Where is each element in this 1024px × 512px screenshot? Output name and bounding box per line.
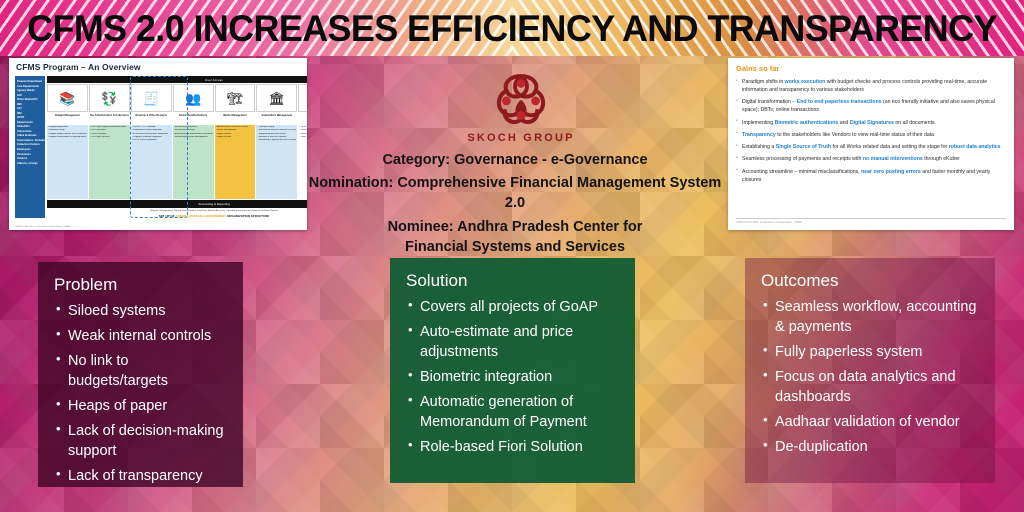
cfms-module-column[interactable]: 📚Budget Management• Budget preparation• … (47, 84, 88, 199)
list-item: Focus on data analytics and dashboards (761, 367, 979, 407)
cfms-module-column[interactable]: 🏗Works Management• Administrative Sancti… (215, 84, 256, 199)
cfms-module-column[interactable]: 👥Social Benefits Delivery• Beneficiary E… (173, 84, 214, 199)
meta-category: Category: Governance - e-Governance (300, 150, 730, 170)
cfms-module-columns: 📚Budget Management• Budget preparation• … (47, 84, 307, 199)
list-item: Fully paperless system (761, 342, 979, 362)
cfms-module-items: • Workflow Setup• Bill creation Manual/ … (256, 125, 297, 199)
gains-text: to the stakeholders like Vendors to view… (776, 132, 934, 138)
gains-item: Digital transformation – End to end pape… (736, 98, 1006, 114)
cfms-module-item: • UDTS Portal Integration (132, 139, 171, 142)
cfms-module-item: • Other Loans (299, 136, 307, 139)
gains-text: Digital transformation – (742, 99, 797, 105)
list-item: Aadhaar validation of vendor (761, 412, 979, 432)
panel-problem: Problem Siloed systemsWeak internal cont… (38, 262, 243, 487)
debt-icon: 🏦 (298, 84, 307, 112)
gains-item: Seamless processing of payments and rece… (736, 155, 1006, 163)
cfms-module-items: • Beneficiary Enrollment• Beneficiary Pr… (173, 125, 214, 199)
gains-item: Paradigm shifts in works execution with … (736, 78, 1006, 94)
cfms-module-column[interactable]: 🏛Expenditure Management• Workflow Setup•… (256, 84, 297, 199)
cfms-setup-line: SET UP OF ANDHRA PRADESH GOVERNMENT ORGA… (47, 213, 307, 219)
skoch-logo: SKOCH GROUP (466, 62, 576, 148)
cfms-module-header: Debt Management (298, 112, 307, 125)
works-icon: 🏗 (215, 84, 256, 112)
gains-title: Gains so far (736, 64, 779, 73)
cfms-module-item: • Beneficiary Account Management (174, 136, 213, 139)
cfms-module-items: • Administrative Sanction Process• Works… (215, 125, 256, 199)
list-item: Heaps of paper (54, 396, 227, 416)
page-title: CFMS 2.0 INCREASES EFFICIENCY AND TRANSP… (15, 0, 1008, 56)
cfms-stakeholder-item: Citizens, at large (17, 162, 43, 167)
panel-solution: Solution Covers all projects of GoAPAuto… (390, 258, 635, 483)
cfms-module-header: Expenditure Management (256, 112, 297, 125)
gains-text: Paradigm shifts in (742, 79, 785, 85)
skoch-knot-icon (484, 66, 558, 130)
panel-solution-list: Covers all projects of GoAPAuto-estimate… (406, 297, 619, 457)
cfms-modules-area: User Access 📚Budget Management• Budget p… (47, 76, 307, 218)
panel-outcomes-list: Seamless workflow, accounting & payments… (761, 297, 979, 457)
list-item: Lack of decision-making support (54, 421, 227, 461)
cfms-module-header: Works Management (215, 112, 256, 125)
cfms-module-column[interactable]: 💱Tax Administration & Collections• Tax P… (89, 84, 130, 199)
cfms-module-header: Tax Administration & Collections (89, 112, 130, 125)
list-item: Siloed systems (54, 301, 227, 321)
panel-problem-title: Problem (54, 276, 227, 295)
cfms-module-item: • Tax Payer Services (90, 136, 129, 139)
gains-highlight: Single Source of Truth (776, 144, 831, 150)
list-item: No link to budgets/targets (54, 351, 227, 391)
cfms-module-header: Revenue & Other Receipts (131, 112, 172, 125)
panel-problem-list: Siloed systemsWeak internal controlsNo l… (54, 301, 227, 486)
cfms-module-items: • Budget preparation• Workflow Setup• Bu… (47, 125, 88, 199)
gains-list: Paradigm shifts in works execution with … (728, 58, 1014, 184)
benefits-icon: 👥 (173, 84, 214, 112)
panel-outcomes-title: Outcomes (761, 272, 979, 291)
cfms-module-item: • Beneficiary Payment with RBI E-Kuber o… (257, 139, 296, 142)
cfms-module-header: Budget Management (47, 112, 88, 125)
cfms-module-items: • Tax Payer Registration Authorization• … (89, 125, 130, 199)
slide-canvas: CFMS 2.0 INCREASES EFFICIENCY AND TRANSP… (0, 0, 1024, 512)
nomination-meta: Category: Governance - e-Governance Nomi… (300, 150, 730, 257)
cfms-overview-thumbnail[interactable]: CFMS Program – An Overview Finance Depar… (9, 58, 307, 230)
gains-text: Seamless processing of payments and rece… (742, 156, 863, 162)
cfms-setup-suffix: ORGANIZATION STRUCTURE (226, 214, 269, 218)
cfms-stakeholder-list: Finance DepartmentLine DepartmentsAgency… (15, 76, 45, 218)
gains-item: Implementing Biometric authentications a… (736, 119, 1006, 127)
gains-highlight: no manual interventions (863, 156, 923, 162)
cfms-user-access-bar: User Access (47, 76, 307, 83)
gains-highlight: works execution (785, 79, 826, 85)
gains-highlight: Biometric authentications (775, 120, 839, 126)
meta-nominee-line1: Nominee: Andhra Pradesh Center for (300, 217, 730, 237)
cfms-module-items: • On-line / OTC Receipts• Department Por… (131, 125, 172, 199)
list-item: Automatic generation of Memorandum of Pa… (406, 392, 619, 432)
list-item: Weak internal controls (54, 326, 227, 346)
cfms-setup-prefix: SET UP OF (159, 214, 176, 218)
cfms-module-item: • Digital of Work (216, 136, 255, 139)
list-item: Covers all projects of GoAP (406, 297, 619, 317)
cfms-module-item: • Budget authorization, re-appropriation… (48, 136, 87, 139)
cfms-stakeholder-item: Finance Department (17, 80, 43, 85)
header-banner: CFMS 2.0 INCREASES EFFICIENCY AND TRANSP… (0, 0, 1024, 56)
gains-highlight: Digital Signatures (850, 120, 894, 126)
gains-item: Establishing a Single Source of Truth fo… (736, 143, 1006, 151)
cfms-accounting-bar: Accounting & Reporting (47, 200, 307, 208)
list-item: Seamless workflow, accounting & payments (761, 297, 979, 337)
gains-highlight: Transparency (742, 132, 776, 138)
list-item: Lack of transparency (54, 466, 227, 486)
gains-highlight: End to end paperless transactions (797, 99, 882, 105)
cfms-slide-footer: CFMS 2.0 AP Office of Secretary of Gover… (15, 226, 70, 228)
list-item: Role-based Fiori Solution (406, 437, 619, 457)
gains-text: and (838, 120, 850, 126)
gains-item: Accounting streamline – minimal misclass… (736, 168, 1006, 184)
gains-text: on all documents (894, 120, 935, 126)
cfms-slide-body: Finance DepartmentLine DepartmentsAgency… (15, 76, 301, 218)
cfms-module-column[interactable]: 🧾Revenue & Other Receipts• On-line / OTC… (131, 84, 172, 199)
list-item: Auto-estimate and price adjustments (406, 322, 619, 362)
gains-highlight: robust data analytics (949, 144, 1001, 150)
meta-nomination: Nomination: Comprehensive Financial Mana… (300, 173, 730, 213)
cfms-module-header: Social Benefits Delivery (173, 112, 214, 125)
skoch-logo-text: SKOCH GROUP (467, 132, 574, 144)
panel-outcomes: Outcomes Seamless workflow, accounting &… (745, 258, 995, 483)
cfms-setup-highlight: ANDHRA PRADESH GOVERNMENT (175, 214, 226, 218)
gains-text: Implementing (742, 120, 775, 126)
gains-footer: CFMS 2.0 AP Office of Secretary of Gover… (736, 218, 1006, 224)
expenditure-icon: 🏛 (256, 84, 297, 112)
panel-solution-title: Solution (406, 272, 619, 291)
gains-highlight: near zero posting errors (861, 169, 921, 175)
gains-text: Establishing a (742, 144, 776, 150)
cfms-slide-title: CFMS Program – An Overview (16, 62, 141, 72)
receipts-icon: 🧾 (131, 84, 172, 112)
tax-icon: 💱 (89, 84, 130, 112)
list-item: Biometric integration (406, 367, 619, 387)
gains-text: for all Works related data and setting t… (831, 144, 949, 150)
gains-text: through eKuber (923, 156, 960, 162)
budget-icon: 📚 (47, 84, 88, 112)
gains-text: Accounting streamline – minimal misclass… (742, 169, 861, 175)
meta-nominee-line2: Financial Systems and Services (300, 237, 730, 257)
gains-item: Transparency to the stakeholders like Ve… (736, 131, 1006, 139)
gains-so-far-panel[interactable]: Gains so far Paradigm shifts in works ex… (728, 58, 1014, 230)
list-item: De-duplication (761, 437, 979, 457)
